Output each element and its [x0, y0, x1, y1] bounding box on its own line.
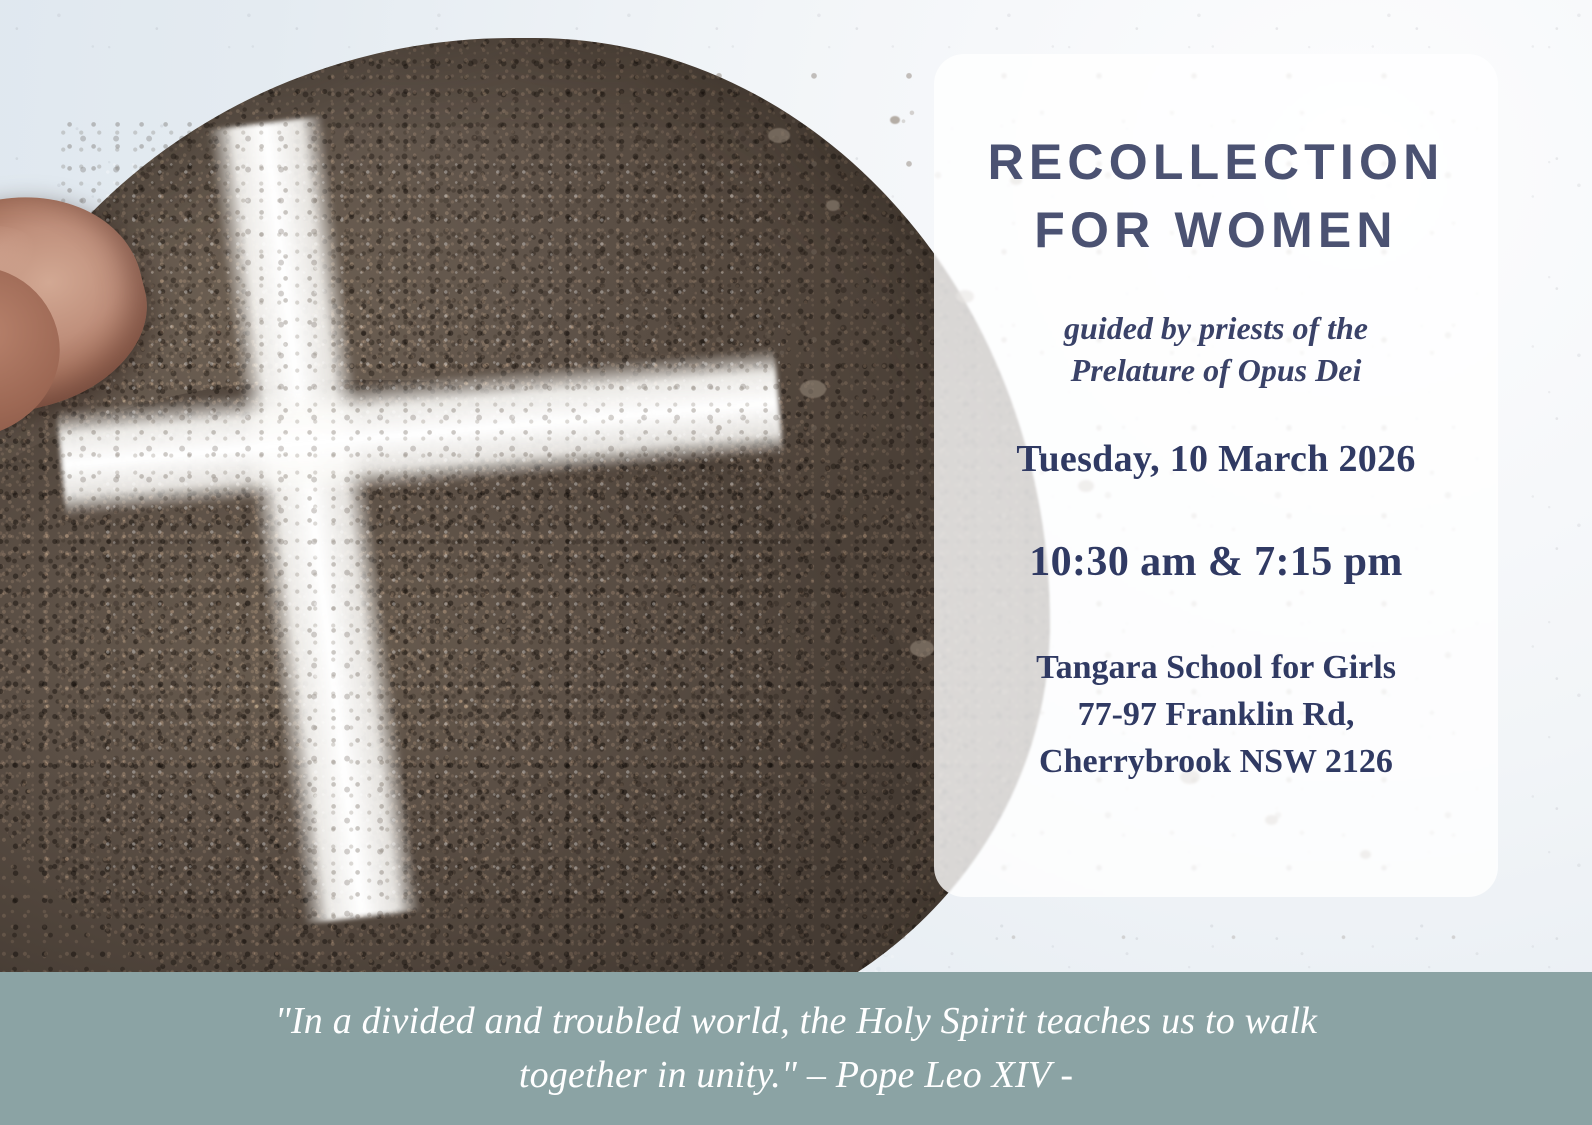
- title-line-1: RECOLLECTION: [988, 134, 1445, 190]
- poster-flyer: RECOLLECTION FOR WOMEN guided by priests…: [0, 0, 1592, 1125]
- title-line-2: FOR WOMEN: [1034, 202, 1397, 258]
- event-time: 10:30 am & 7:15 pm: [968, 483, 1464, 587]
- event-venue: Tangara School for Girls 77-97 Franklin …: [968, 587, 1464, 786]
- subtitle-line-2: Prelature of Opus Dei: [1071, 352, 1362, 388]
- event-date: Tuesday, 10 March 2026: [968, 391, 1464, 483]
- page-title: RECOLLECTION FOR WOMEN: [968, 54, 1464, 264]
- subtitle: guided by priests of the Prelature of Op…: [968, 264, 1464, 391]
- venue-line-3: Cherrybrook NSW 2126: [1039, 743, 1393, 780]
- venue-line-1: Tangara School for Girls: [1036, 649, 1396, 686]
- subtitle-line-1: guided by priests of the: [1064, 310, 1368, 346]
- info-card: RECOLLECTION FOR WOMEN guided by priests…: [934, 54, 1498, 897]
- venue-line-2: 77-97 Franklin Rd,: [1078, 696, 1355, 733]
- info-card-content: RECOLLECTION FOR WOMEN guided by priests…: [934, 54, 1498, 786]
- quote-line-2: together in unity." – Pope Leo XIV -: [519, 1054, 1073, 1096]
- quote-text: "In a divided and troubled world, the Ho…: [195, 995, 1397, 1103]
- quote-line-1: "In a divided and troubled world, the Ho…: [275, 1000, 1317, 1042]
- quote-band: "In a divided and troubled world, the Ho…: [0, 972, 1592, 1125]
